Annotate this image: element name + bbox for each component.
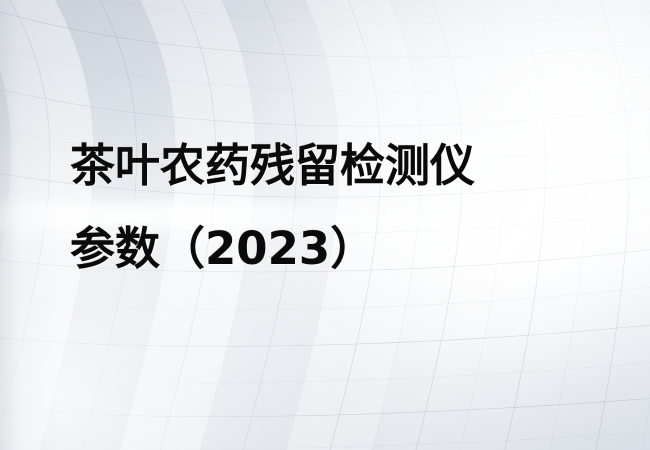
banner-title: 茶叶农药残留检测仪 参数（2023）: [70, 124, 610, 290]
title-line-primary: 茶叶农药残留检测仪: [70, 124, 610, 207]
title-line-secondary: 参数（2023）: [70, 207, 610, 290]
title-banner: 茶叶农药残留检测仪 参数（2023）: [0, 0, 650, 450]
